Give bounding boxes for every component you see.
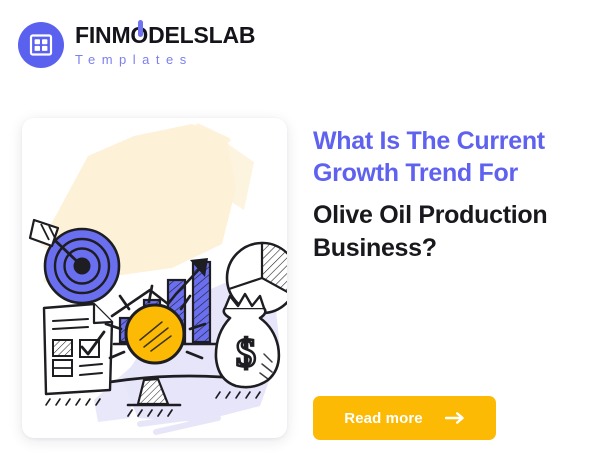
read-more-label: Read more xyxy=(344,410,422,427)
brand-text-block: FINMODELSLAB Templates xyxy=(75,24,255,66)
brand-logo[interactable]: FINMODELSLAB Templates xyxy=(18,22,255,68)
page-title: Olive Oil Production Business? xyxy=(313,199,591,264)
brand-wordmark-text: FINMODELSLAB xyxy=(75,22,255,48)
grid-squares-icon xyxy=(28,32,54,58)
brand-subtitle: Templates xyxy=(75,53,255,66)
read-more-button[interactable]: Read more xyxy=(313,396,496,440)
location-pin-accent-icon xyxy=(138,20,143,37)
checklist-document-icon xyxy=(44,304,112,405)
svg-text:$: $ xyxy=(236,330,256,375)
headline-accent: What Is The Current Growth Trend For xyxy=(313,126,591,189)
headline-block: What Is The Current Growth Trend For Oli… xyxy=(313,126,591,264)
illustration-card: $ xyxy=(22,118,287,438)
business-analytics-balance-illustration: $ xyxy=(22,118,287,438)
brand-wordmark: FINMODELSLAB xyxy=(75,24,255,47)
arrow-right-icon xyxy=(445,411,465,425)
brand-mark-circle xyxy=(18,22,64,68)
